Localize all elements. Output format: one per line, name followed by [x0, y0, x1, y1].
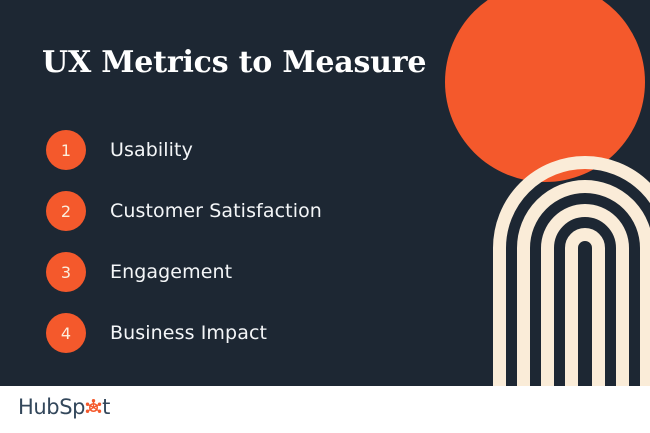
list-item-number-badge: 1	[46, 130, 86, 170]
list-item: 4 Business Impact	[46, 313, 466, 353]
list-item-label: Business Impact	[110, 322, 267, 344]
slide-footer: HubSp t	[0, 386, 650, 433]
decorative-arc-3	[572, 235, 599, 387]
slide-dark-panel: UX Metrics to Measure 1 Usability 2 Cust…	[0, 0, 650, 386]
hubspot-logo: HubSp t	[18, 395, 110, 419]
list-item: 1 Usability	[46, 130, 466, 170]
list-item-label: Customer Satisfaction	[110, 200, 322, 222]
hubspot-sprocket-icon	[85, 399, 102, 416]
hubspot-logo-text-left: HubSp	[18, 395, 85, 419]
metrics-list: 1 Usability 2 Customer Satisfaction 3 En…	[46, 130, 466, 353]
slide-canvas: UX Metrics to Measure 1 Usability 2 Cust…	[0, 0, 650, 433]
decorative-arcs-svg	[440, 0, 650, 386]
list-item-number-badge: 3	[46, 252, 86, 292]
hubspot-logo-text-right: t	[102, 395, 110, 419]
decorative-graphic	[440, 0, 650, 386]
decorative-arc-group	[524, 187, 647, 387]
list-item: 2 Customer Satisfaction	[46, 191, 466, 231]
list-item: 3 Engagement	[46, 252, 466, 292]
decorative-circle	[445, 0, 645, 182]
list-item-number-badge: 4	[46, 313, 86, 353]
list-item-label: Engagement	[110, 261, 232, 283]
list-item-number-badge: 2	[46, 191, 86, 231]
list-item-label: Usability	[110, 139, 193, 161]
slide-title: UX Metrics to Measure	[42, 44, 426, 82]
